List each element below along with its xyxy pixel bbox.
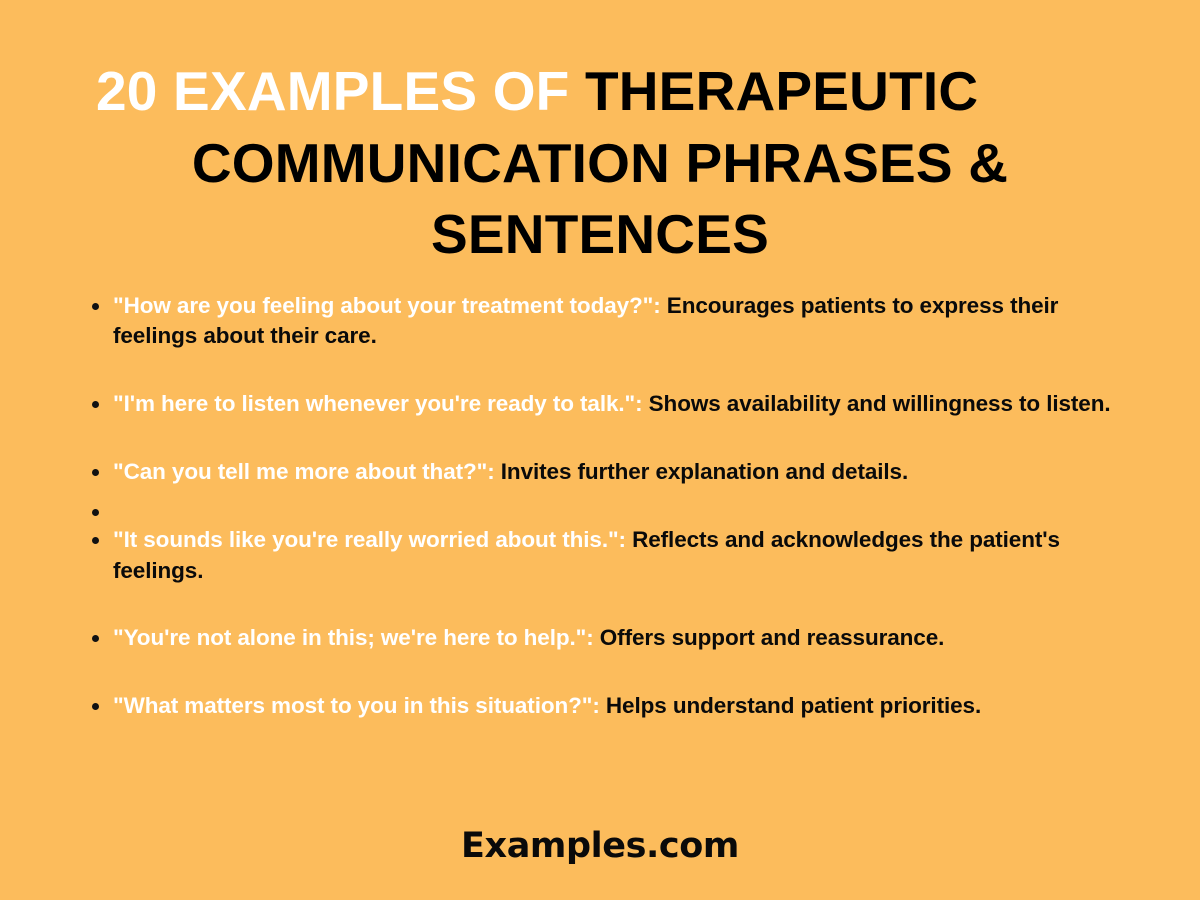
list-item: "How are you feeling about your treatmen… (86, 291, 1114, 353)
brand-wordmark: Examples.com (461, 826, 739, 866)
footer: Examples.com (0, 826, 1200, 866)
page-title: 20 EXAMPLES OF THERAPEUTIC COMMUNICATION… (0, 0, 1200, 271)
example-phrase: "I'm here to listen whenever you're read… (113, 391, 643, 416)
list-item: "I'm here to listen whenever you're read… (86, 389, 1114, 420)
title-line-1: 20 EXAMPLES OF THERAPEUTIC (96, 56, 1104, 128)
example-explanation: Helps understand patient priorities. (600, 693, 981, 718)
example-phrase: "You're not alone in this; we're here to… (113, 625, 594, 650)
example-explanation: Shows availability and willingness to li… (643, 391, 1111, 416)
list-item: "You're not alone in this; we're here to… (86, 623, 1114, 654)
example-explanation: Invites further explanation and details. (495, 459, 909, 484)
title-highlight-white: 20 EXAMPLES OF (96, 60, 569, 122)
examples-list: "How are you feeling about your treatmen… (86, 291, 1114, 723)
examples-list-block: "How are you feeling about your treatmen… (0, 271, 1200, 732)
title-line-2: COMMUNICATION PHRASES & (96, 128, 1104, 200)
example-phrase: "It sounds like you're really worried ab… (113, 527, 626, 552)
example-phrase: "What matters most to you in this situat… (113, 693, 600, 718)
example-phrase: "How are you feeling about your treatmen… (113, 293, 661, 318)
title-line-3: SENTENCES (96, 199, 1104, 271)
title-highlight-black: THERAPEUTIC (585, 60, 978, 122)
list-item: "Can you tell me more about that?": Invi… (86, 457, 1114, 488)
example-phrase: "Can you tell me more about that?": (113, 459, 495, 484)
list-item: "It sounds like you're really worried ab… (86, 525, 1114, 587)
poster-canvas: 20 EXAMPLES OF THERAPEUTIC COMMUNICATION… (0, 0, 1200, 900)
example-explanation: Offers support and reassurance. (594, 625, 945, 650)
list-item-empty (86, 497, 1114, 516)
list-item: "What matters most to you in this situat… (86, 691, 1114, 722)
